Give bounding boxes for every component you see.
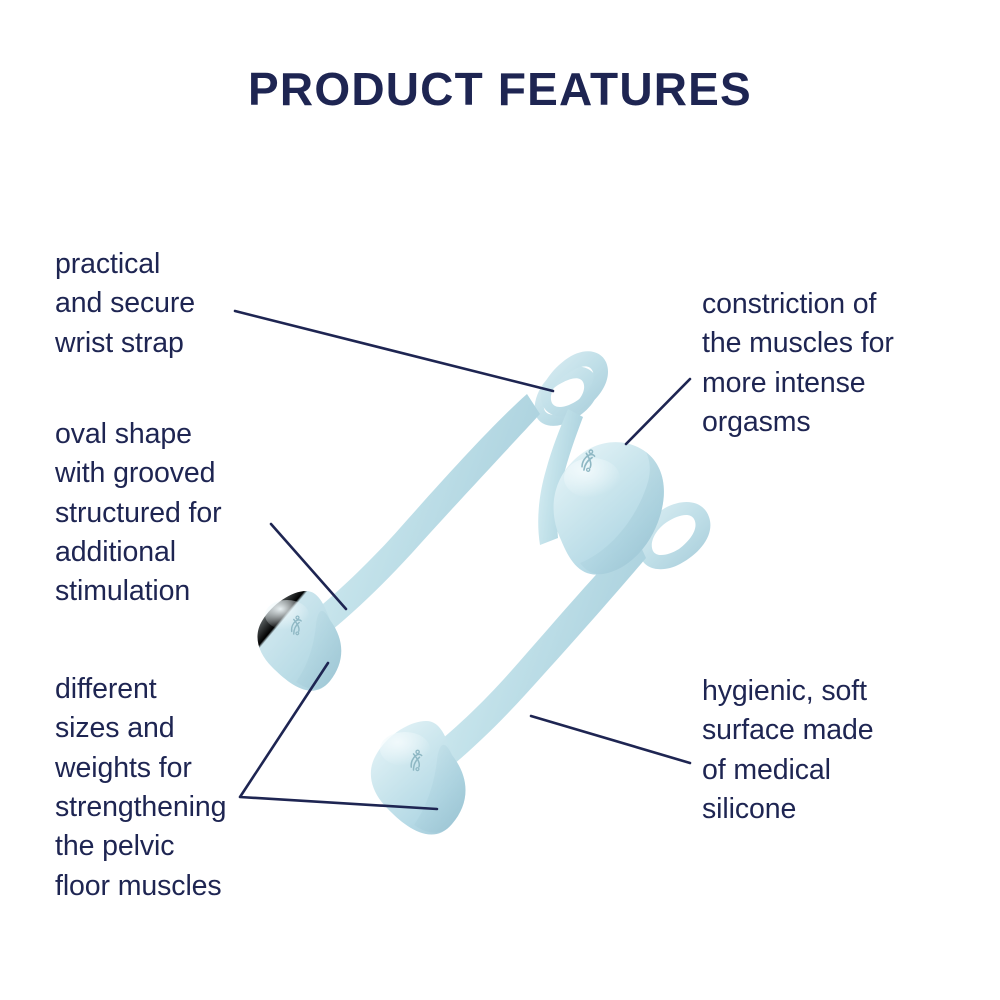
product-features-infographic: PRODUCT FEATURES bbox=[0, 0, 1000, 1000]
body-highlight-large bbox=[564, 458, 620, 498]
wrist-strap-loop-large bbox=[541, 351, 608, 416]
callout-wrist-strap: practical and secure wrist strap bbox=[55, 245, 305, 363]
body-highlight-medium bbox=[380, 732, 430, 766]
brand-logo-icon-small bbox=[286, 616, 307, 637]
callout-oval-shape: oval shape with grooved structured for a… bbox=[55, 415, 315, 612]
callout-constriction: constriction of the muscles for more int… bbox=[702, 285, 967, 442]
leader-line-hygienic bbox=[531, 716, 690, 763]
stem-medium bbox=[426, 534, 646, 773]
stem-large bbox=[538, 409, 583, 545]
callout-hygienic-silicone: hygienic, soft surface made of medical s… bbox=[702, 672, 967, 829]
wrist-strap-loop-small bbox=[535, 366, 599, 425]
kegel-ball-medium bbox=[371, 502, 711, 834]
body-shade-medium bbox=[414, 745, 466, 833]
leader-line-constriction bbox=[626, 379, 690, 444]
body-shade-large bbox=[580, 452, 664, 574]
callout-different-sizes: different sizes and weights for strength… bbox=[55, 670, 320, 906]
brand-logo-icon-large bbox=[577, 449, 600, 473]
kegel-ball-large bbox=[538, 351, 664, 574]
body-large bbox=[554, 442, 664, 575]
body-medium bbox=[371, 721, 466, 835]
wrist-strap-loop-medium bbox=[639, 502, 710, 569]
stem-small bbox=[306, 394, 540, 638]
brand-logo-icon-medium bbox=[405, 750, 428, 773]
page-title: PRODUCT FEATURES bbox=[0, 62, 1000, 116]
